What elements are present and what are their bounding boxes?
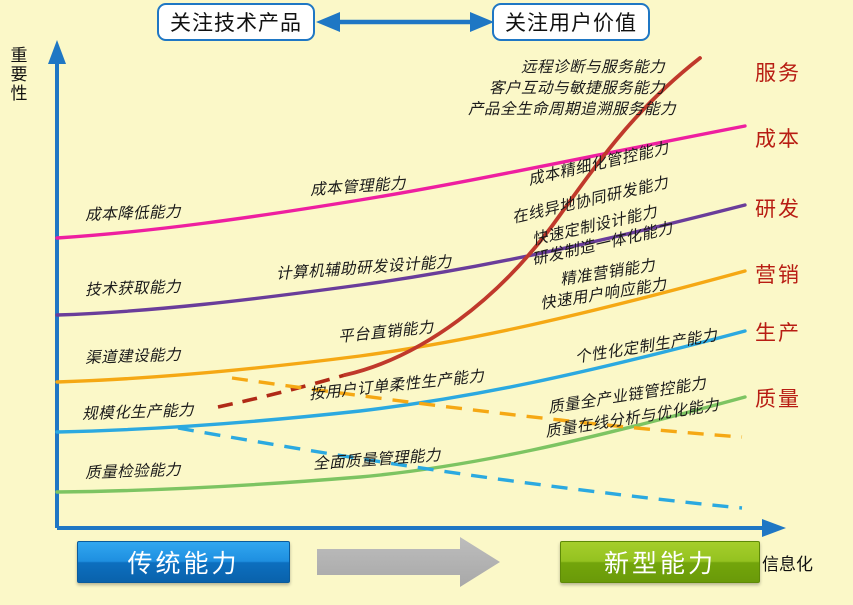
right-arrow-icon bbox=[762, 519, 786, 537]
caption-product-lifecycle-traceability-service: 产品全生命周期追溯服务能力 bbox=[468, 97, 676, 119]
caption-remote-diagnosis-service: 远程诊断与服务能力 bbox=[521, 55, 665, 77]
category-label-production: 生产 bbox=[755, 317, 801, 347]
traditional-capability-label: 传统能力 bbox=[127, 544, 239, 580]
caption-customer-interaction-agile-service: 客户互动与敏捷服务能力 bbox=[489, 76, 665, 98]
up-arrow-icon bbox=[48, 40, 66, 64]
caption-cost-reduction: 成本降低能力 bbox=[85, 200, 182, 225]
category-label-service: 服务 bbox=[755, 57, 801, 87]
caption-scale-production: 规模化生产能力 bbox=[82, 398, 195, 424]
category-label-marketing: 营销 bbox=[755, 259, 801, 289]
new-capability-label: 新型能力 bbox=[604, 544, 716, 580]
caption-technology-acquisition: 技术获取能力 bbox=[85, 275, 182, 300]
caption-quality-inspection: 质量检验能力 bbox=[85, 458, 182, 483]
y-axis-label: 重要性 bbox=[8, 46, 30, 103]
diagram-canvas: 关注技术产品 关注用户价值 重要性 信息化 服务 成本 研发 营销 生产 质量 … bbox=[0, 0, 853, 605]
focus-technology-product-label: 关注技术产品 bbox=[170, 7, 302, 37]
double-headed-arrow-icon bbox=[316, 12, 494, 32]
transition-arrow-icon bbox=[317, 537, 500, 587]
new-capability-pill[interactable]: 新型能力 bbox=[560, 541, 760, 583]
focus-user-value-box[interactable]: 关注用户价值 bbox=[492, 3, 650, 41]
x-axis-label: 信息化 bbox=[762, 550, 813, 575]
category-label-rnd: 研发 bbox=[755, 193, 801, 223]
curve-production-declining bbox=[178, 428, 742, 508]
curves-layer bbox=[0, 0, 853, 605]
category-label-quality: 质量 bbox=[755, 383, 801, 413]
caption-channel-building: 渠道建设能力 bbox=[85, 343, 182, 368]
category-label-cost: 成本 bbox=[755, 123, 801, 153]
traditional-capability-pill[interactable]: 传统能力 bbox=[77, 541, 290, 583]
focus-technology-product-box[interactable]: 关注技术产品 bbox=[157, 3, 315, 41]
focus-user-value-label: 关注用户价值 bbox=[505, 7, 637, 37]
